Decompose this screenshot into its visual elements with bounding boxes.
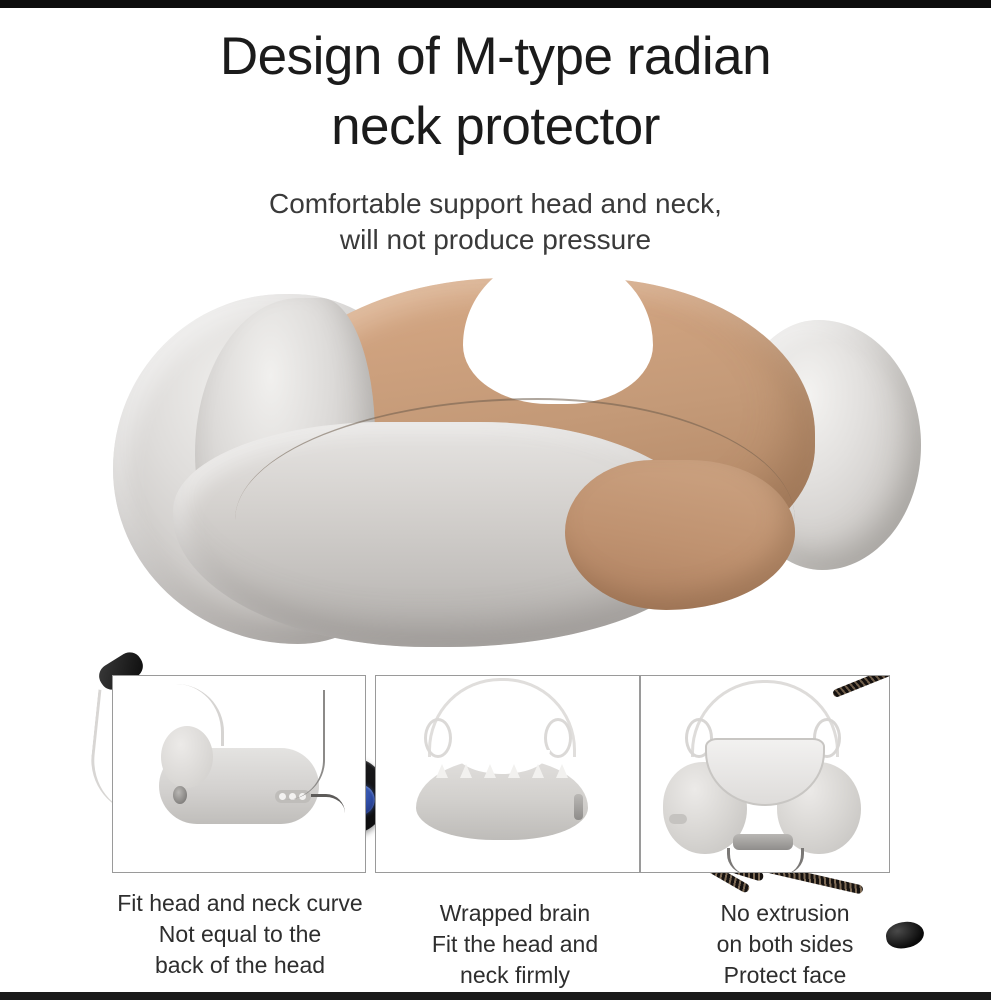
caption-line: Fit the head and [370,929,660,960]
caption-line: Fit head and neck curve [90,888,390,919]
page-subtitle: Comfortable support head and neck, will … [0,186,991,258]
feature-panel-fit-curve [112,675,366,873]
drawstring-right [775,848,804,873]
caption-line: on both sides [640,929,930,960]
page-title-line-1: Design of M-type radian [0,22,991,92]
caption-line: back of the head [90,950,390,981]
pillow-lobe [161,726,213,788]
caption-line: Wrapped brain [370,898,660,929]
feature-panel-row [112,675,890,873]
caption-no-extrusion: No extrusion on both sides Protect face [640,898,930,991]
feature-caption-row: Fit head and neck curve Not equal to the… [0,888,991,988]
page-subtitle-line-2: will not produce pressure [0,222,991,258]
bottom-letterbox-bar [0,992,991,1000]
top-letterbox-bar [0,0,991,8]
caption-line: neck firmly [370,960,660,991]
caption-line: No extrusion [640,898,930,929]
feature-panel-wrapped-brain [375,675,640,873]
caption-line: Not equal to the [90,919,390,950]
pillow-m-type-dip [463,254,653,404]
hero-product-image [0,262,991,682]
pillow-front-view-art [641,676,889,872]
page-title: Design of M-type radian neck protector [0,22,991,162]
pillow-button-strip [669,814,687,824]
drawstring-left [727,848,756,873]
pillow-port-hole [173,786,187,804]
neck-pillow-illustration [95,272,855,652]
pillow-cord-tail [311,794,345,813]
left-ear-outline [424,718,452,758]
page-subtitle-line-1: Comfortable support head and neck, [0,186,991,222]
caption-fit-curve: Fit head and neck curve Not equal to the… [90,888,390,981]
caption-wrapped-brain: Wrapped brain Fit the head and neck firm… [370,898,660,991]
pillow-side-view-art [113,676,365,872]
page-title-line-2: neck protector [0,92,991,162]
massage-node-row [434,764,570,782]
caption-line: Protect face [640,960,930,991]
pillow-rear-view-art [376,676,639,872]
product-infographic: Design of M-type radian neck protector C… [0,0,991,1000]
zipper-pull [574,794,583,820]
feature-panel-no-extrusion [640,675,890,873]
drawstring-cord [832,675,890,698]
